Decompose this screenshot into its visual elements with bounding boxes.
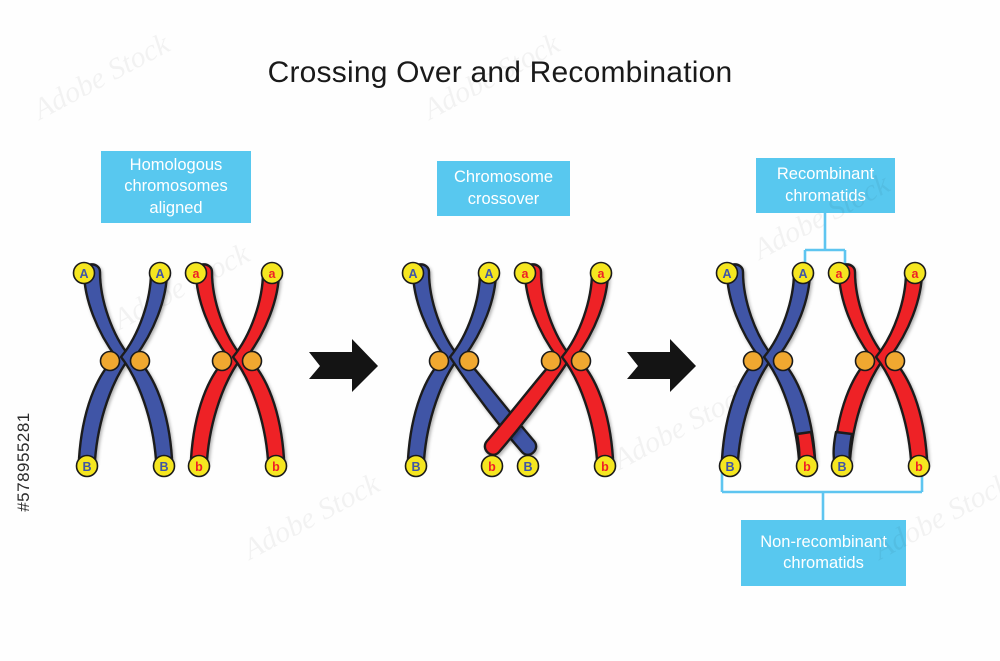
allele-marker-b-bottom-right: b (266, 456, 287, 477)
allele-marker-A-top-right: A (479, 263, 500, 284)
svg-text:b: b (915, 460, 923, 474)
allele-marker-a-top-left: a (829, 263, 850, 284)
svg-text:a: a (193, 267, 201, 281)
arrow-stage-2-to-3 (627, 339, 696, 392)
chromatid-arm-right (121, 264, 172, 467)
svg-text:A: A (79, 267, 88, 281)
chromatid-arm-right-recombinant (764, 264, 815, 467)
stage-aligned: A A B B a (74, 263, 287, 477)
svg-text:Adobe Stock: Adobe Stock (106, 237, 256, 337)
allele-marker-b-bottom-crossed: b (482, 456, 503, 477)
centromere-dot-right (886, 352, 905, 371)
centromere-dot-right (572, 352, 591, 371)
paternal-chromosome-red[interactable] (834, 264, 927, 467)
svg-text:b: b (803, 460, 811, 474)
svg-text:B: B (837, 460, 846, 474)
allele-marker-b-bottom-left: b (189, 456, 210, 477)
svg-text:a: a (836, 267, 844, 281)
svg-text:B: B (725, 460, 734, 474)
svg-text:b: b (601, 460, 609, 474)
paternal-chromosome-red[interactable] (485, 264, 613, 467)
allele-marker-A-top-right: A (150, 263, 171, 284)
allele-marker-a-top-right: a (262, 263, 283, 284)
svg-text:A: A (722, 267, 731, 281)
svg-text:a: a (269, 267, 277, 281)
svg-text:B: B (159, 460, 168, 474)
diagram-canvas: Crossing Over and Recombination #5789552… (0, 0, 1000, 661)
chromatid-arm-left-recombinant (834, 264, 885, 467)
centromere-dot-right (774, 352, 793, 371)
recombinant-bracket (805, 213, 845, 268)
svg-text:A: A (155, 267, 164, 281)
svg-text:Adobe Stock: Adobe Stock (236, 467, 386, 567)
svg-text:b: b (488, 460, 496, 474)
allele-marker-b-bottom-right: b (595, 456, 616, 477)
centromere-dot-right (243, 352, 262, 371)
maternal-chromosome-blue[interactable] (79, 264, 172, 467)
chromatid-arm-left (408, 264, 459, 467)
paternal-chromosome-red[interactable] (191, 264, 284, 467)
allele-marker-A-top-right: A (793, 263, 814, 284)
svg-text:b: b (272, 460, 280, 474)
allele-marker-a-top-left: a (515, 263, 536, 284)
svg-text:A: A (408, 267, 417, 281)
svg-text:a: a (912, 267, 920, 281)
centromere-dot-left (430, 352, 449, 371)
centromere-dot-left (542, 352, 561, 371)
chromatid-arm-right-crossed (450, 264, 536, 454)
allele-marker-b-bottom-right-recombinant: b (797, 456, 818, 477)
chromatid-arm-left (191, 264, 242, 467)
recombined-red-segment (797, 432, 815, 467)
allele-marker-A-top-left: A (74, 263, 95, 284)
svg-text:B: B (82, 460, 91, 474)
allele-marker-B-bottom-crossed: B (518, 456, 539, 477)
allele-marker-a-top-right: a (591, 263, 612, 284)
callout-homologous-chromosomes: Homologous chromosomes aligned (101, 151, 251, 223)
allele-marker-b-bottom-right: b (909, 456, 930, 477)
stage-crossover: A A B a a (403, 263, 616, 477)
callout-non-recombinant-chromatids: Non-recombinant chromatids (741, 520, 906, 586)
page-title: Crossing Over and Recombination (0, 56, 1000, 90)
svg-text:a: a (522, 267, 530, 281)
allele-marker-B-bottom-left: B (77, 456, 98, 477)
svg-text:b: b (195, 460, 203, 474)
chromatid-arm-right (562, 264, 613, 467)
centromere-dot-left (213, 352, 232, 371)
chromatid-arm-right (233, 264, 284, 467)
chromatid-arm-right (876, 264, 927, 467)
chromatid-arm-left-crossed (485, 264, 571, 454)
arrow-stage-1-to-2 (309, 339, 378, 392)
adobe-stock-watermark-tiles: Adobe Stock Adobe Stock Adobe Stock Adob… (26, 27, 1000, 567)
chromatid-arm-left (722, 264, 773, 467)
centromere-dot-left (856, 352, 875, 371)
centromere-dot-left (744, 352, 763, 371)
stock-id-watermark: #578955281 (14, 402, 34, 522)
callout-recombinant-chromatids: Recombinant chromatids (756, 158, 895, 213)
non-recombinant-bracket (722, 470, 922, 520)
allele-marker-B-bottom-left: B (406, 456, 427, 477)
recombined-blue-segment (834, 432, 852, 467)
svg-text:A: A (484, 267, 493, 281)
centromere-dot-right (131, 352, 150, 371)
svg-text:A: A (798, 267, 807, 281)
centromere-dot-left (101, 352, 120, 371)
allele-marker-a-top-right: a (905, 263, 926, 284)
allele-marker-B-bottom-left-recombinant: B (832, 456, 853, 477)
allele-marker-A-top-left: A (403, 263, 424, 284)
chromatid-arm-left (79, 264, 130, 467)
stage-recombined: A A B b a (717, 213, 930, 520)
svg-text:a: a (598, 267, 606, 281)
allele-marker-B-bottom-right: B (154, 456, 175, 477)
svg-text:B: B (523, 460, 532, 474)
callout-chromosome-crossover: Chromosome crossover (437, 161, 570, 216)
allele-marker-a-top-left: a (186, 263, 207, 284)
allele-marker-B-bottom-left: B (720, 456, 741, 477)
centromere-dot-right (460, 352, 479, 371)
maternal-chromosome-blue[interactable] (722, 264, 815, 467)
svg-text:B: B (411, 460, 420, 474)
maternal-chromosome-blue[interactable] (408, 264, 536, 467)
allele-marker-A-top-left: A (717, 263, 738, 284)
svg-text:Adobe Stock: Adobe Stock (606, 377, 756, 477)
